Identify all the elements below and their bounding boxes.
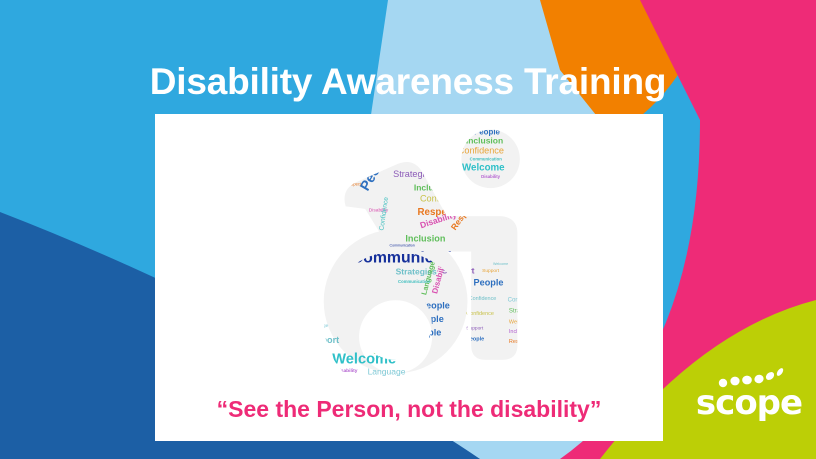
wordcloud-word: People xyxy=(307,249,321,254)
wordcloud-word: Inclusion xyxy=(302,266,321,272)
wordcloud-word: Communication xyxy=(470,157,503,162)
wordcloud-word: Confidence xyxy=(469,296,497,302)
wordcloud-word: Welcome xyxy=(298,330,316,335)
wordcloud-word: Strategies xyxy=(509,307,536,314)
wordcloud-word: Welcome xyxy=(455,180,473,185)
wordcloud-svg: Wheelchair accessibility symbol formed f… xyxy=(155,126,663,394)
wordcloud-word: Communication xyxy=(374,351,402,355)
wordcloud-word: Welcome xyxy=(332,352,396,368)
wordcloud-word: Respect xyxy=(383,136,424,165)
wordcloud-word: Communication xyxy=(390,244,415,248)
wordcloud-word: People xyxy=(296,296,310,301)
wordcloud-word: Confidence xyxy=(420,194,466,204)
wordcloud-word: Inclusion xyxy=(296,277,315,283)
wordcloud-word: Disability xyxy=(294,288,314,294)
wordcloud-word: Respect xyxy=(509,339,530,345)
slide-quote: “See the Person, not the disability” xyxy=(155,396,663,423)
wordcloud-word: Strategies xyxy=(469,195,488,200)
wordcloud-image: Wheelchair accessibility symbol formed f… xyxy=(155,126,663,394)
page-title: Disability Awareness Training xyxy=(0,63,816,102)
wordcloud-word: Respect xyxy=(346,182,362,187)
wordcloud-word: Welcome xyxy=(493,262,508,266)
wordcloud-word: Support xyxy=(482,268,500,274)
slide-canvas: Disability Awareness Training Wheelchair… xyxy=(0,0,816,459)
wordcloud-word: Welcome xyxy=(462,162,505,173)
wordcloud-head-words: PeopleInclusionConfidenceCommunicationWe… xyxy=(458,128,505,179)
wordcloud-word: Language xyxy=(307,323,329,329)
wordcloud-word: People xyxy=(474,278,504,288)
scope-logo: scope xyxy=(694,368,804,430)
wordcloud-word: Inclusion xyxy=(509,329,531,335)
wordcloud-word: People xyxy=(347,173,362,179)
wordcloud-word: People xyxy=(411,328,441,338)
wordcloud-word: Language xyxy=(368,367,406,377)
wordcloud-word: Strategies xyxy=(393,169,435,179)
wordcloud-word: People xyxy=(292,302,319,311)
wordcloud-word: Confidence xyxy=(294,318,316,323)
wordcloud-word: Disability xyxy=(305,257,323,262)
wordcloud-word: Inclusion xyxy=(466,136,503,146)
wordcloud-word: Disability xyxy=(481,174,501,179)
content-card: Wheelchair accessibility symbol formed f… xyxy=(155,114,663,441)
wordcloud-word: Inclusion xyxy=(414,183,451,193)
wordcloud-word: Welcome xyxy=(509,319,532,325)
wordcloud-word: Support xyxy=(466,325,484,331)
wordcloud-word: Confidence xyxy=(466,311,494,317)
wordcloud-word: Support xyxy=(304,335,339,345)
wordcloud-word: Disability xyxy=(336,368,358,374)
wordcloud-word: Confidence xyxy=(458,145,504,155)
scope-wordmark: scope xyxy=(694,386,804,420)
wordcloud-word: Confidence xyxy=(508,296,539,303)
wordcloud-word: Inclusion xyxy=(405,234,445,244)
wordcloud-word: People xyxy=(466,336,484,342)
wordcloud-word: Communication xyxy=(398,279,431,284)
